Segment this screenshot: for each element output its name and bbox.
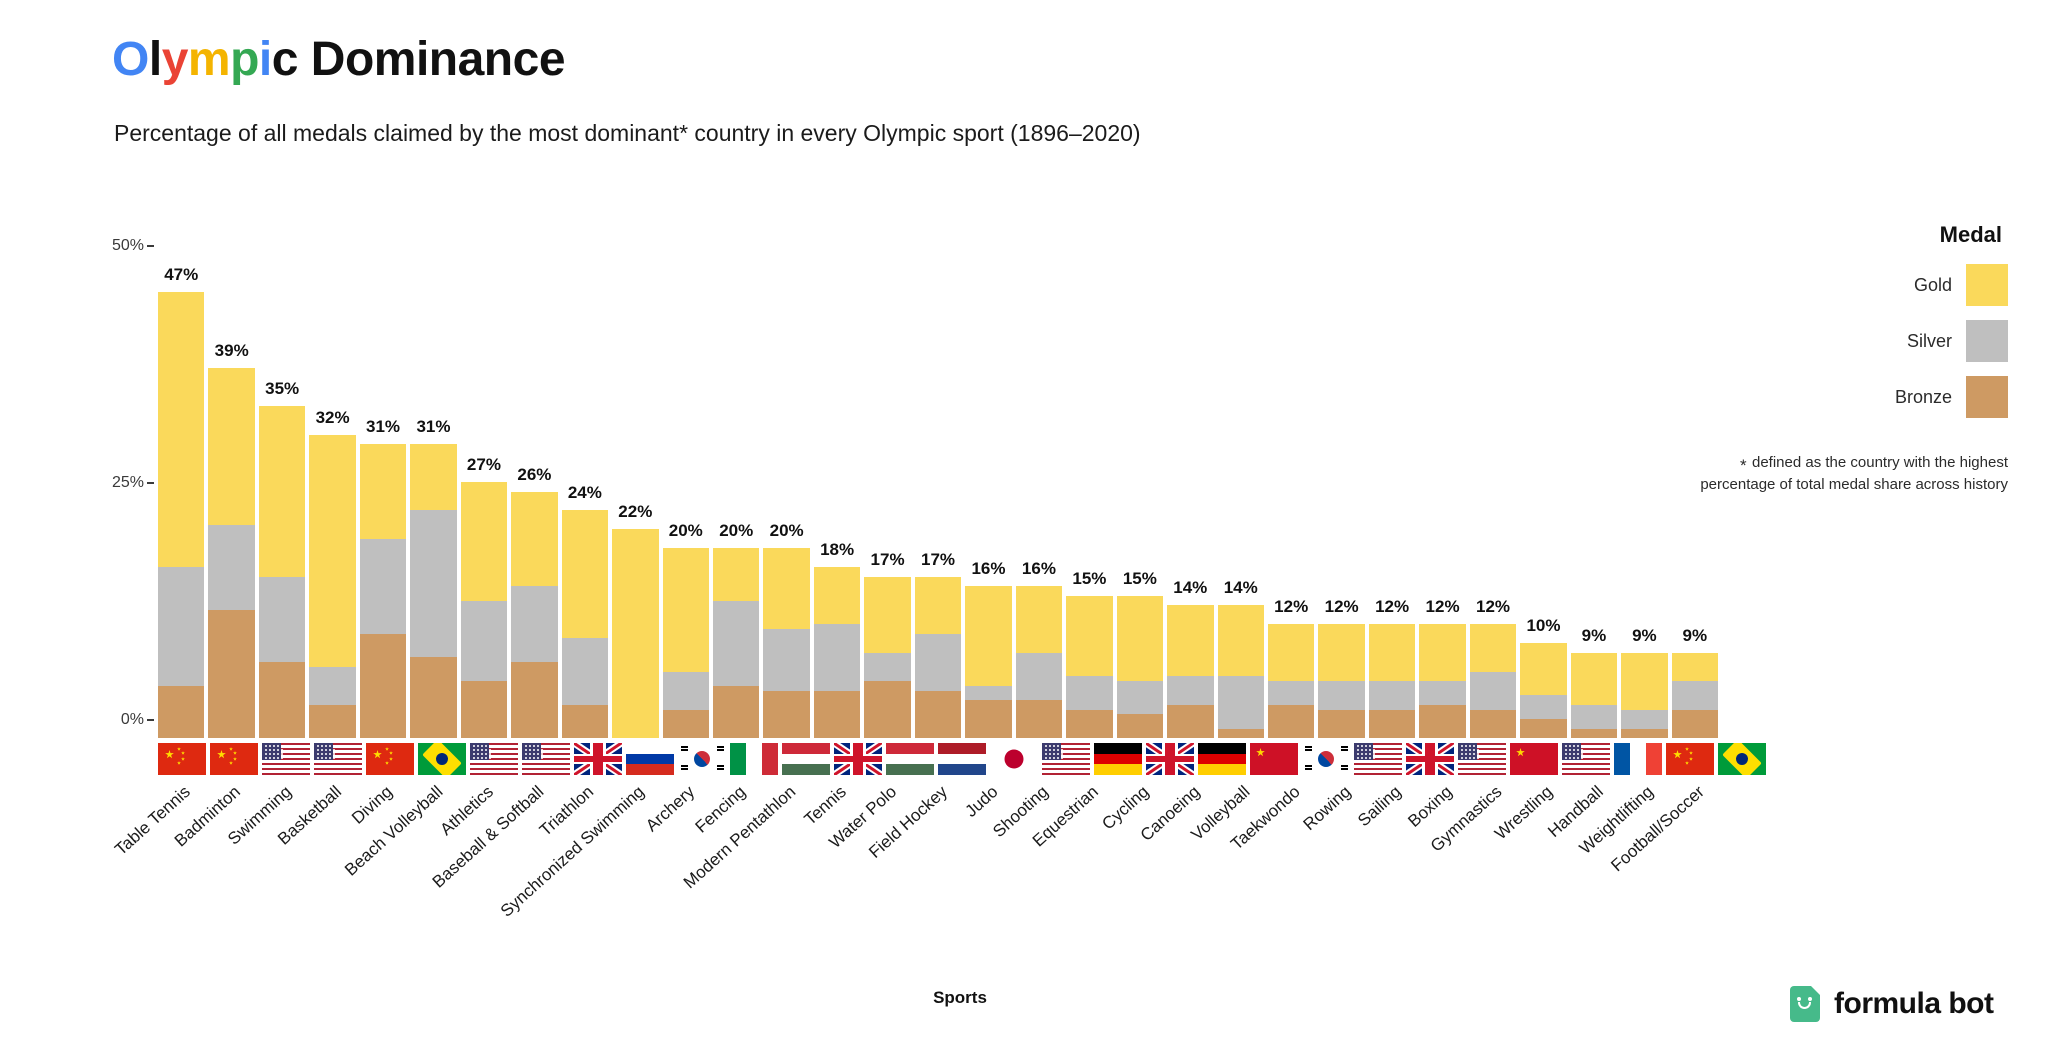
bar-column[interactable]: 16% xyxy=(965,245,1011,738)
segment-bronze[interactable] xyxy=(864,681,910,738)
stacked-bar[interactable]: 12% xyxy=(1318,624,1364,738)
country-flag-row xyxy=(158,742,1718,776)
title-part-0: O xyxy=(112,33,149,86)
bar-column[interactable]: 20% xyxy=(663,245,709,738)
flag-icon-kr xyxy=(678,743,726,775)
bar-column[interactable]: 27% xyxy=(461,245,507,738)
legend-label: Bronze xyxy=(1895,387,1952,408)
stacked-bar[interactable]: 31% xyxy=(360,444,406,738)
flag-icon-us xyxy=(522,743,570,775)
segment-bronze[interactable] xyxy=(259,662,305,738)
flag-cell xyxy=(158,742,206,776)
segment-gold[interactable] xyxy=(1167,605,1213,676)
bar-value-label: 20% xyxy=(770,521,804,541)
bar-column[interactable]: 12% xyxy=(1419,245,1465,738)
flag-icon-us xyxy=(1042,743,1090,775)
flag-cell xyxy=(522,742,570,776)
segment-gold[interactable] xyxy=(1672,653,1718,681)
flag-icon-gb xyxy=(1146,743,1194,775)
flag-cell xyxy=(1198,742,1246,776)
x-tick-label: Sailing xyxy=(1354,782,1405,831)
flag-icon-jp xyxy=(990,743,1038,775)
flag-icon-de xyxy=(1094,743,1142,775)
title-part-5: i xyxy=(259,33,272,86)
bar-value-label: 47% xyxy=(164,265,198,285)
segment-silver[interactable] xyxy=(663,672,709,710)
title-part-3: m xyxy=(188,33,230,86)
segment-gold[interactable] xyxy=(612,529,658,738)
segment-silver[interactable] xyxy=(1066,676,1112,709)
bar-column[interactable]: 10% xyxy=(1520,245,1566,738)
flag-cell xyxy=(366,742,414,776)
stacked-bar[interactable]: 22% xyxy=(612,529,658,738)
segment-gold[interactable] xyxy=(309,435,355,667)
flag-cell xyxy=(1250,742,1298,776)
segment-silver[interactable] xyxy=(1218,676,1264,728)
bar-column[interactable]: 22% xyxy=(612,245,658,738)
flag-cell xyxy=(1718,742,1766,776)
segment-bronze[interactable] xyxy=(562,705,608,738)
segment-bronze[interactable] xyxy=(511,662,557,738)
legend-swatch xyxy=(1966,376,2008,418)
flag-cell xyxy=(938,742,986,776)
segment-bronze[interactable] xyxy=(1167,705,1213,738)
segment-gold[interactable] xyxy=(562,510,608,638)
x-tick-label: Judo xyxy=(961,782,1002,822)
segment-gold[interactable] xyxy=(1470,624,1516,671)
segment-bronze[interactable] xyxy=(965,700,1011,738)
stacked-bar[interactable]: 16% xyxy=(1016,586,1062,738)
flag-cell xyxy=(1614,742,1662,776)
segment-bronze[interactable] xyxy=(1066,710,1112,738)
bar-value-label: 10% xyxy=(1526,616,1560,636)
bar-value-label: 12% xyxy=(1426,597,1460,617)
flag-icon-cn xyxy=(366,743,414,775)
flag-icon-us xyxy=(262,743,310,775)
stacked-bar[interactable]: 9% xyxy=(1672,653,1718,738)
bar-value-label: 12% xyxy=(1375,597,1409,617)
flag-icon-us xyxy=(1562,743,1610,775)
segment-gold[interactable] xyxy=(915,577,961,634)
bar-value-label: 14% xyxy=(1173,578,1207,598)
segment-silver[interactable] xyxy=(763,629,809,691)
segment-gold[interactable] xyxy=(511,492,557,587)
bar-value-label: 16% xyxy=(971,559,1005,579)
legend-label: Gold xyxy=(1914,275,1952,296)
brand-logo: formula bot xyxy=(1790,986,1994,1022)
flag-cell xyxy=(1042,742,1090,776)
segment-silver[interactable] xyxy=(1571,705,1617,729)
segment-silver[interactable] xyxy=(1621,710,1667,729)
segment-gold[interactable] xyxy=(1621,653,1667,710)
bar-value-label: 17% xyxy=(921,550,955,570)
title-part-6: c Dominance xyxy=(272,33,565,86)
segment-gold[interactable] xyxy=(208,368,254,524)
legend-item-silver[interactable]: Silver xyxy=(1740,320,2008,362)
segment-bronze[interactable] xyxy=(1621,729,1667,738)
flag-cell xyxy=(470,742,518,776)
segment-silver[interactable] xyxy=(309,667,355,705)
x-axis-title: Sports xyxy=(0,988,1920,1008)
segment-bronze[interactable] xyxy=(1268,705,1314,738)
x-tick-label: Archery xyxy=(642,782,699,836)
segment-gold[interactable] xyxy=(1369,624,1415,681)
bar-value-label: 22% xyxy=(618,502,652,522)
flag-icon-su xyxy=(1510,743,1558,775)
flag-cell xyxy=(262,742,310,776)
flag-cell xyxy=(314,742,362,776)
segment-bronze[interactable] xyxy=(1419,705,1465,738)
footnote-star: * xyxy=(1740,454,1747,479)
title-part-2: y xyxy=(162,33,188,86)
bar-value-label: 9% xyxy=(1582,626,1607,646)
segment-gold[interactable] xyxy=(814,567,860,624)
flag-icon-us xyxy=(1458,743,1506,775)
segment-gold[interactable] xyxy=(1016,586,1062,652)
bar-column[interactable]: 17% xyxy=(864,245,910,738)
stacked-bar[interactable]: 17% xyxy=(864,577,910,738)
bar-column[interactable]: 9% xyxy=(1571,245,1617,738)
flag-icon-hu xyxy=(886,743,934,775)
bar-value-label: 14% xyxy=(1224,578,1258,598)
segment-gold[interactable] xyxy=(965,586,1011,686)
flag-icon-de xyxy=(1198,743,1246,775)
bar-value-label: 35% xyxy=(265,379,299,399)
bar-value-label: 12% xyxy=(1325,597,1359,617)
page-subtitle: Percentage of all medals claimed by the … xyxy=(114,120,1141,147)
bar-column[interactable]: 20% xyxy=(713,245,759,738)
segment-gold[interactable] xyxy=(1318,624,1364,681)
segment-silver[interactable] xyxy=(1520,695,1566,719)
flag-cell xyxy=(1562,742,1610,776)
segment-silver[interactable] xyxy=(1672,681,1718,709)
segment-silver[interactable] xyxy=(915,634,961,691)
flag-cell xyxy=(626,742,674,776)
page-title: Olympic Dominance xyxy=(112,32,565,87)
segment-silver[interactable] xyxy=(259,577,305,662)
segment-bronze[interactable] xyxy=(1016,700,1062,738)
stacked-bar[interactable]: 15% xyxy=(1066,596,1112,738)
stacked-bar[interactable]: 14% xyxy=(1167,605,1213,738)
title-part-4: p xyxy=(230,33,259,86)
plot-area: 0%25%50% 47%39%35%32%31%31%27%26%24%22%2… xyxy=(158,245,1718,738)
stacked-bar[interactable]: 39% xyxy=(208,368,254,738)
bar-value-label: 31% xyxy=(366,417,400,437)
segment-silver[interactable] xyxy=(562,638,608,704)
flag-icon-us xyxy=(1354,743,1402,775)
flag-cell xyxy=(990,742,1038,776)
segment-bronze[interactable] xyxy=(410,657,456,738)
flag-cell xyxy=(782,742,830,776)
flag-cell xyxy=(1354,742,1402,776)
bar-value-label: 27% xyxy=(467,455,501,475)
flag-cell xyxy=(418,742,466,776)
segment-bronze[interactable] xyxy=(1672,710,1718,738)
flag-icon-nl xyxy=(938,743,986,775)
flag-cell xyxy=(730,742,778,776)
bar-value-label: 20% xyxy=(719,521,753,541)
chart-page: Olympic Dominance Percentage of all meda… xyxy=(0,0,2048,1048)
flag-icon-fr xyxy=(1614,743,1662,775)
stacked-bar[interactable]: 35% xyxy=(259,406,305,738)
segment-gold[interactable] xyxy=(1571,653,1617,705)
legend-title: Medal xyxy=(1740,222,2008,248)
flag-icon-gb xyxy=(834,743,882,775)
segment-bronze[interactable] xyxy=(208,610,254,738)
segment-gold[interactable] xyxy=(1520,643,1566,695)
flag-cell xyxy=(886,742,934,776)
segment-gold[interactable] xyxy=(410,444,456,510)
x-tick-label: Rowing xyxy=(1300,782,1356,835)
flag-cell xyxy=(1094,742,1142,776)
segment-bronze[interactable] xyxy=(763,691,809,738)
segment-silver[interactable] xyxy=(1470,672,1516,710)
segment-bronze[interactable] xyxy=(1520,719,1566,738)
bar-column[interactable]: 47% xyxy=(158,245,204,738)
flag-icon-cn xyxy=(210,743,258,775)
segment-gold[interactable] xyxy=(158,292,204,567)
stacked-bar[interactable]: 20% xyxy=(763,548,809,738)
flag-icon-br xyxy=(418,743,466,775)
segment-gold[interactable] xyxy=(360,444,406,539)
stacked-bar[interactable]: 32% xyxy=(309,435,355,738)
bar-value-label: 39% xyxy=(215,341,249,361)
stacked-bar[interactable]: 15% xyxy=(1117,596,1163,738)
segment-silver[interactable] xyxy=(1268,681,1314,705)
segment-bronze[interactable] xyxy=(1218,729,1264,738)
bar-column[interactable]: 32% xyxy=(309,245,355,738)
bar-column[interactable]: 18% xyxy=(814,245,860,738)
flag-icon-ru xyxy=(626,743,674,775)
stacked-bar[interactable]: 16% xyxy=(965,586,1011,738)
stacked-bar[interactable]: 14% xyxy=(1218,605,1264,738)
y-tick-25pct: 25% xyxy=(112,474,158,492)
segment-silver[interactable] xyxy=(208,525,254,610)
legend-swatch xyxy=(1966,320,2008,362)
stacked-bar[interactable]: 18% xyxy=(814,567,860,738)
flag-cell xyxy=(210,742,258,776)
segment-bronze[interactable] xyxy=(360,634,406,738)
segment-bronze[interactable] xyxy=(663,710,709,738)
stacked-bar[interactable]: 12% xyxy=(1369,624,1415,738)
segment-bronze[interactable] xyxy=(461,681,507,738)
bar-column[interactable]: 12% xyxy=(1268,245,1314,738)
segment-bronze[interactable] xyxy=(158,686,204,738)
segment-gold[interactable] xyxy=(1419,624,1465,681)
segment-bronze[interactable] xyxy=(1470,710,1516,738)
segment-silver[interactable] xyxy=(360,539,406,634)
flag-cell xyxy=(1146,742,1194,776)
bar-value-label: 9% xyxy=(1683,626,1708,646)
stacked-bar[interactable]: 9% xyxy=(1571,653,1617,738)
segment-silver[interactable] xyxy=(1016,653,1062,700)
segment-silver[interactable] xyxy=(1318,681,1364,709)
segment-bronze[interactable] xyxy=(915,691,961,738)
stacked-bar[interactable]: 31% xyxy=(410,444,456,738)
segment-silver[interactable] xyxy=(1167,676,1213,704)
bar-value-label: 17% xyxy=(871,550,905,570)
segment-silver[interactable] xyxy=(864,653,910,681)
flag-cell xyxy=(1302,742,1350,776)
bar-column[interactable]: 14% xyxy=(1218,245,1264,738)
bar-column[interactable]: 39% xyxy=(208,245,254,738)
y-tick-0pct: 0% xyxy=(121,711,158,729)
segment-silver[interactable] xyxy=(965,686,1011,700)
flag-cell xyxy=(834,742,882,776)
flag-icon-kr xyxy=(1302,743,1350,775)
legend-item-gold[interactable]: Gold xyxy=(1740,264,2008,306)
flag-cell xyxy=(1458,742,1506,776)
bar-column[interactable]: 24% xyxy=(562,245,608,738)
segment-silver[interactable] xyxy=(1419,681,1465,705)
stacked-bar[interactable]: 26% xyxy=(511,492,557,739)
segment-bronze[interactable] xyxy=(713,686,759,738)
segment-gold[interactable] xyxy=(1117,596,1163,681)
bar-column[interactable]: 31% xyxy=(360,245,406,738)
footnote: * defined as the country with the highes… xyxy=(1700,452,2008,496)
segment-silver[interactable] xyxy=(713,601,759,686)
flag-icon-it xyxy=(730,743,778,775)
bar-value-label: 31% xyxy=(416,417,450,437)
flag-cell xyxy=(678,742,726,776)
segment-bronze[interactable] xyxy=(1369,710,1415,738)
segment-bronze[interactable] xyxy=(309,705,355,738)
bar-column[interactable]: 31% xyxy=(410,245,456,738)
segment-gold[interactable] xyxy=(713,548,759,600)
flag-cell xyxy=(574,742,622,776)
bar-value-label: 15% xyxy=(1123,569,1157,589)
bar-column[interactable]: 26% xyxy=(511,245,557,738)
flag-icon-us xyxy=(470,743,518,775)
segment-bronze[interactable] xyxy=(1318,710,1364,738)
bar-series: 47%39%35%32%31%31%27%26%24%22%20%20%20%1… xyxy=(158,245,1718,738)
stacked-bar[interactable]: 9% xyxy=(1621,653,1667,738)
bar-value-label: 20% xyxy=(669,521,703,541)
stacked-bar[interactable]: 10% xyxy=(1520,643,1566,738)
bar-column[interactable]: 12% xyxy=(1470,245,1516,738)
segment-silver[interactable] xyxy=(511,586,557,662)
legend-item-bronze[interactable]: Bronze xyxy=(1740,376,2008,418)
segment-bronze[interactable] xyxy=(1571,729,1617,738)
segment-gold[interactable] xyxy=(864,577,910,653)
segment-gold[interactable] xyxy=(663,548,709,671)
bar-column[interactable]: 12% xyxy=(1318,245,1364,738)
bar-column[interactable]: 9% xyxy=(1621,245,1667,738)
stacked-bar[interactable]: 24% xyxy=(562,510,608,738)
segment-bronze[interactable] xyxy=(1117,714,1163,738)
flag-cell xyxy=(1510,742,1558,776)
segment-gold[interactable] xyxy=(1218,605,1264,676)
stacked-bar[interactable]: 20% xyxy=(663,548,709,738)
formula-bot-icon xyxy=(1790,986,1820,1022)
bar-value-label: 16% xyxy=(1022,559,1056,579)
legend-swatch xyxy=(1966,264,2008,306)
flag-cell xyxy=(1406,742,1454,776)
bar-value-label: 26% xyxy=(517,465,551,485)
stacked-bar[interactable]: 20% xyxy=(713,548,759,738)
segment-gold[interactable] xyxy=(1268,624,1314,681)
bar-column[interactable]: 14% xyxy=(1167,245,1213,738)
bar-value-label: 9% xyxy=(1632,626,1657,646)
legend: Medal GoldSilverBronze xyxy=(1740,222,2008,432)
segment-silver[interactable] xyxy=(158,567,204,686)
segment-bronze[interactable] xyxy=(814,691,860,738)
title-part-1: l xyxy=(149,33,162,86)
segment-silver[interactable] xyxy=(1117,681,1163,714)
segment-gold[interactable] xyxy=(1066,596,1112,677)
flag-icon-br xyxy=(1718,743,1766,775)
stacked-bar[interactable]: 12% xyxy=(1268,624,1314,738)
segment-gold[interactable] xyxy=(259,406,305,577)
stacked-bar[interactable]: 27% xyxy=(461,482,507,738)
flag-icon-us xyxy=(314,743,362,775)
bar-column[interactable]: 15% xyxy=(1066,245,1112,738)
flag-cell xyxy=(1666,742,1714,776)
flag-icon-su xyxy=(1250,743,1298,775)
bar-column[interactable]: 12% xyxy=(1369,245,1415,738)
bar-column[interactable]: 35% xyxy=(259,245,305,738)
brand-name: formula bot xyxy=(1834,987,1994,1021)
segment-gold[interactable] xyxy=(461,482,507,601)
segment-silver[interactable] xyxy=(461,601,507,682)
flag-icon-gb xyxy=(574,743,622,775)
segment-silver[interactable] xyxy=(814,624,860,690)
segment-silver[interactable] xyxy=(410,510,456,657)
bar-column[interactable]: 20% xyxy=(763,245,809,738)
legend-label: Silver xyxy=(1907,331,1952,352)
flag-icon-hu xyxy=(782,743,830,775)
bar-column[interactable]: 16% xyxy=(1016,245,1062,738)
stacked-bar[interactable]: 12% xyxy=(1419,624,1465,738)
stacked-bar[interactable]: 17% xyxy=(915,577,961,738)
bar-value-label: 24% xyxy=(568,483,602,503)
flag-icon-gb xyxy=(1406,743,1454,775)
bar-column[interactable]: 17% xyxy=(915,245,961,738)
bar-value-label: 18% xyxy=(820,540,854,560)
flag-icon-cn xyxy=(158,743,206,775)
stacked-bar[interactable]: 47% xyxy=(158,292,204,738)
bar-value-label: 15% xyxy=(1072,569,1106,589)
bar-column[interactable]: 15% xyxy=(1117,245,1163,738)
y-tick-50pct: 50% xyxy=(112,237,158,255)
flag-icon-cn xyxy=(1666,743,1714,775)
bar-value-label: 12% xyxy=(1476,597,1510,617)
bar-value-label: 32% xyxy=(316,408,350,428)
segment-silver[interactable] xyxy=(1369,681,1415,709)
stacked-bar[interactable]: 12% xyxy=(1470,624,1516,738)
bar-value-label: 12% xyxy=(1274,597,1308,617)
segment-gold[interactable] xyxy=(763,548,809,629)
